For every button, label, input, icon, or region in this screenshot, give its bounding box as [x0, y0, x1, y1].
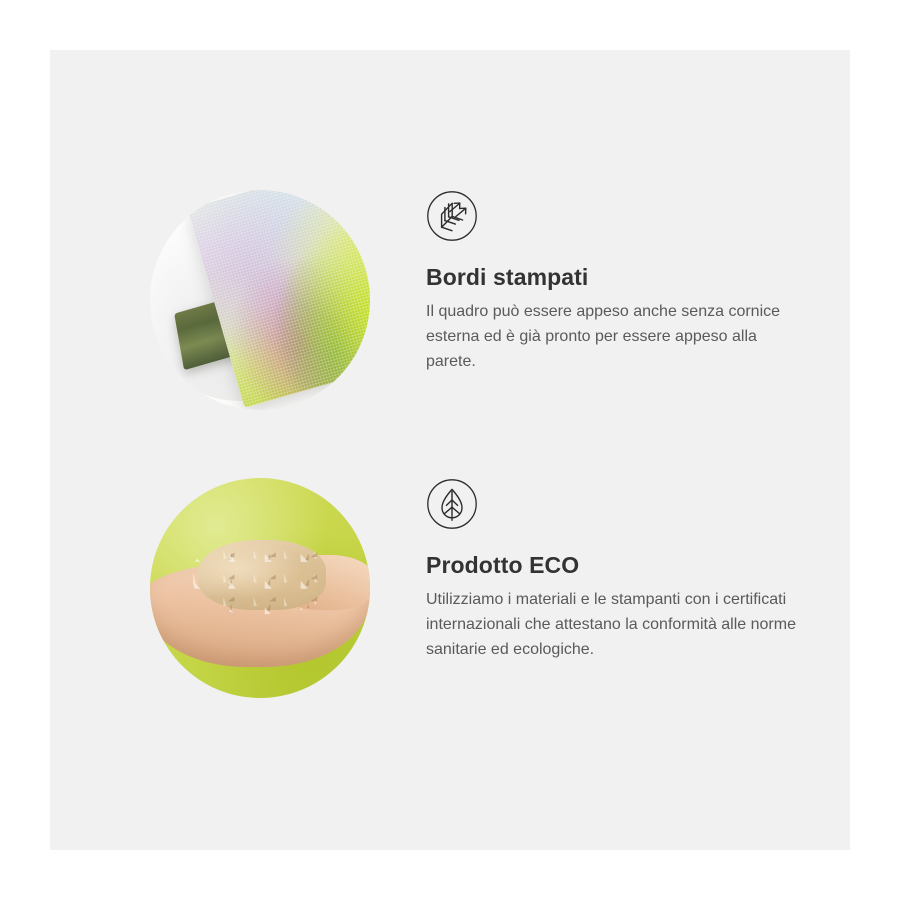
feature-title: Bordi stampati: [426, 264, 826, 291]
canvas-corner-photo: [150, 190, 370, 410]
content-panel: Bordi stampati Il quadro può essere appe…: [50, 50, 850, 850]
feature-title: Prodotto ECO: [426, 552, 826, 579]
wood-chips-photo: [150, 478, 370, 698]
feature-description: Utilizziamo i materiali e le stampanti c…: [426, 587, 796, 662]
leaf-icon: [426, 478, 478, 530]
wood-chips-pile: [198, 540, 326, 610]
printed-edges-icon: [426, 190, 478, 242]
feature-bordi-stampati: Bordi stampati Il quadro può essere appe…: [50, 190, 850, 460]
product-feature-page: Bordi stampati Il quadro può essere appe…: [0, 0, 900, 900]
feature-prodotto-eco: Prodotto ECO Utilizziamo i materiali e l…: [50, 478, 850, 748]
feature-description: Il quadro può essere appeso anche senza …: [426, 299, 796, 374]
feature-text-block: Prodotto ECO Utilizziamo i materiali e l…: [426, 478, 826, 662]
feature-text-block: Bordi stampati Il quadro può essere appe…: [426, 190, 826, 374]
